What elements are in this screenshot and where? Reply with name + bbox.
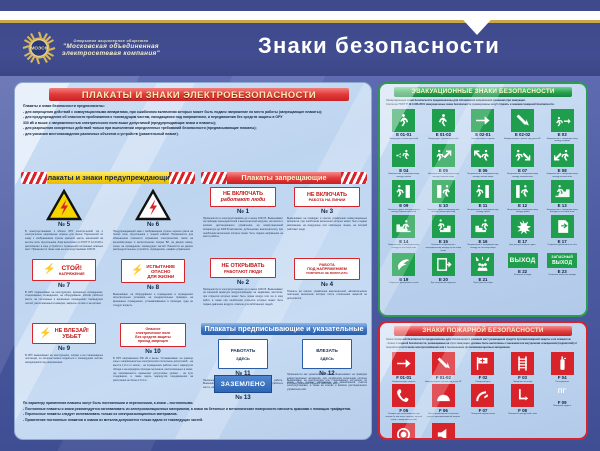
e-11-sign (471, 180, 494, 203)
fire-panel-title: ЗНАКИ ПОЖАРНОЙ БЕЗОПАСНОСТИ (394, 326, 572, 336)
top-navy-bar (0, 0, 600, 11)
f-10-sign (392, 423, 415, 440)
f-01-01-sign (392, 352, 415, 375)
sign-description: Выход здесь (левосторонний) (384, 138, 424, 141)
sign-description: Для доступа вскрыть здесь (503, 244, 543, 247)
arrow-diag-icon (514, 112, 531, 129)
prescriptive-sign-11-line-1: ЗДЕСЬ (236, 356, 250, 361)
sign-cell: E 02-02Направляющая стрелка под углом 45… (503, 109, 543, 143)
f-02-sign (471, 352, 494, 375)
warning-sign-8: ⚡ ИСПЫТАНИЕ ОПАСНО ДЛЯ ЖИЗНИ № 8 Вывешив… (113, 259, 193, 308)
sign-description: Направление к эвакуационному выходу по л… (463, 244, 503, 250)
sign-cell: ПГF 09Пожарный гидрант (542, 384, 582, 421)
fire-sign-grid: F 01-01Направляющая стрелкаF 01-02Направ… (384, 352, 582, 440)
prohibiting-sign-2-line-1: РАБОТАЮТ ЛЮДИ (224, 269, 262, 274)
extinguisher-icon (554, 355, 571, 372)
sign-cell: E 15Указатель направления к эвакуационно… (424, 215, 464, 252)
prohibiting-sign-2-number: № 2 (203, 279, 283, 286)
warning-section-title: Плакаты и знаки предупреждающие (21, 172, 195, 184)
run-down-right-icon (514, 147, 531, 164)
warning-sign-5-number: № 5 (25, 221, 103, 228)
sign-code: E 14 (384, 239, 424, 244)
electrical-safety-heading: ПЛАКАТЫ И ЗНАКИ ЭЛЕКТРОБЕЗОПАСНОСТИ (49, 88, 349, 101)
do-not-switch-on-line-work-placard: НЕ ВКЛЮЧАТЬ РАБОТА НА ЛИНИИ (294, 187, 360, 207)
prescriptive-sign-12-line-1: ЗДЕСЬ (320, 356, 334, 361)
e-19-sign (392, 253, 415, 276)
prohibiting-sign-3-desc: Вывешивают на приводах и ключах управлен… (287, 217, 367, 232)
sign-code: E 04 (384, 168, 424, 173)
warning-sign-7-line-1: НАПРЯЖЕНИЕ (59, 272, 85, 276)
prescriptive-sign-11-line-0: РАБОТАТЬ (231, 348, 256, 353)
sign-cell: E 01-01Выход здесь (левосторонний) (384, 109, 424, 143)
warning-sign-6-number: № 6 (113, 221, 193, 228)
e-17-sign (511, 215, 534, 238)
prescriptive-sign-13-desc: Применяется как указательный плакат. Выв… (287, 373, 367, 392)
prohibiting-sign-2-desc: Применяется в электроустановках до и выш… (203, 288, 283, 307)
warning-sign-8-line-2: ДЛЯ ЖИЗНИ (146, 274, 175, 279)
sign-description: Выход здесь (правосторонний) (424, 138, 464, 141)
sign-cell: E 20Для открывания сдвинуть (424, 253, 464, 285)
electric-field-placard: Опасное электрическое поле Без средств з… (120, 323, 186, 347)
warning-sign-9-line-0: НЕ ВЛЕЗАЙ! (55, 328, 89, 334)
prohibiting-sign-1: НЕ ВКЛЮЧАТЬ работают люди № 1 Применяетс… (203, 187, 283, 239)
sign-description: Указатель выхода (503, 274, 543, 277)
company-name-block: Открытое акционерное общество "Московска… (62, 39, 160, 57)
top-white-bar (0, 11, 600, 20)
sign-description: Пожарный сухотрубный стояк (503, 413, 543, 416)
sign-code: E 19 (384, 277, 424, 282)
sign-code: E 21 (463, 277, 503, 282)
prescriptive-sign-13-line-0: ЗАЗЕМЛЕНО (221, 381, 266, 388)
f-09-sign: ПГ (547, 384, 577, 399)
prohibiting-section-title: Плакаты запрещающие (201, 172, 367, 184)
fire-panel-intro: Знаки пожарной безопасности предназначен… (386, 338, 580, 350)
stairs-down-r-icon (554, 183, 571, 200)
warning-sign-6: № 6 Предупреждающий знак с изображением … (113, 190, 193, 252)
prohibiting-sign-1-desc: Применяется в электроустановках до и выш… (203, 217, 283, 240)
prohibiting-sign-2: НЕ ОТКРЫВАТЬ РАБОТАЮТ ЛЮДИ № 2 Применяет… (203, 258, 283, 306)
sign-cell: ЗАПАСНЫЙВЫХОДE 23Указатель запасного вых… (542, 253, 582, 285)
sign-description: Направляющая стрелка (463, 138, 503, 141)
e-06-sign (471, 144, 494, 167)
sign-code: E 20 (424, 277, 464, 282)
evacuation-signs-panel: ЭВАКУАЦИОННЫЕ ЗНАКИ БЕЗОПАСНОСТИ Эвакуац… (378, 82, 588, 317)
prescriptive-sign-12-line-0: ВЛЕЗАТЬ (316, 348, 338, 353)
prohibiting-section-label: Плакаты запрещающие (241, 173, 326, 182)
stairs-up-r-icon (435, 218, 452, 235)
e-07-sign (511, 144, 534, 167)
evacuation-panel-intro: Эвакуационные знаки безопасности предназ… (386, 99, 580, 107)
sign-code: E 12 (503, 203, 543, 208)
hatch-right-icon (341, 172, 367, 184)
dry-riser-icon (514, 387, 531, 404)
evacuation-panel-title: ЭВАКУАЦИОННЫЕ ЗНАКИ БЕЗОПАСНОСТИ (394, 87, 572, 97)
e-23-sign: ЗАПАСНЫЙВЫХОД (547, 253, 577, 268)
sign-description: Указатель направления к эвакуационному в… (424, 244, 464, 252)
sign-description: Пункт (место) сбора (463, 282, 503, 285)
sign-cell: E 03Направление к эвакуационному выходу … (542, 109, 582, 143)
prohibiting-sign-4: РАБОТА ПОД НАПРЯЖЕНИЕМ ПОВТОРНО НЕ ВКЛЮЧ… (287, 258, 367, 301)
e-02-01-sign (471, 109, 494, 132)
sign-code: E 17 (503, 239, 543, 244)
prohibiting-sign-1-number: № 1 (203, 208, 283, 215)
company-logo: МОЭСК Открытое акционерное общество "Мос… (22, 31, 160, 65)
lightning-bolt-icon: ⚡ (131, 266, 143, 276)
sign-cell: F 06Место размещения нескольких средств … (424, 384, 464, 421)
f-11-sign (432, 423, 455, 440)
prohibiting-sign-3: НЕ ВКЛЮЧАТЬ РАБОТА НА ЛИНИИ № 3 Вывешива… (287, 187, 367, 232)
prohibiting-sign-4-desc: Плакаты на ключах управления выключателе… (287, 290, 367, 301)
sign-cell: F 08Пожарный сухотрубный стояк (503, 384, 543, 421)
sign-description: Открывать движением от себя (542, 244, 582, 247)
e-22-sign: ВЫХОД (508, 253, 538, 268)
e-03-sign (551, 109, 574, 132)
sign-code: F 01-02 (424, 375, 464, 380)
sign-description: Направление к эвакуационному выходу прям… (463, 209, 503, 215)
company-name-line2: электросетевая компания" (62, 50, 160, 57)
prescriptive-sign-13-number: № 13 (203, 394, 283, 401)
intro-line-5: - для указания местонахождения различных… (23, 132, 367, 138)
sign-cell: F 05Телефон для использования при пожаре… (384, 384, 424, 421)
warning-sign-8-number: № 8 (113, 284, 193, 291)
stop-voltage-placard: ⚡ СТОЙ! НАПРЯЖЕНИЕ (32, 259, 96, 281)
sign-cell: E 19Открывать движением от себя (384, 253, 424, 285)
sign-cell: F 02Пожарный кран (463, 352, 503, 384)
sign-description: Указатель запасного выхода (542, 274, 582, 277)
sign-code: F 01-01 (384, 375, 424, 380)
warning-sign-5: № 5 В электроустановках и вблизи ОРУ эле… (25, 190, 103, 252)
slide-door-icon (435, 256, 452, 273)
logo-text: МОЭСК (31, 46, 48, 51)
sign-code: E 22 (503, 269, 543, 274)
sign-text: ВЫХОД (552, 260, 572, 266)
sign-text: ВЫХОД (510, 257, 536, 264)
warning-sign-10: Опасное электрическое поле Без средств з… (113, 323, 193, 383)
e-17-sign (551, 215, 574, 238)
sign-description: Пожарная лестница (503, 381, 543, 384)
warning-sign-9-line-1: УБЬЕТ (55, 334, 89, 340)
warning-sign-7-line-0: СТОЙ! (59, 265, 85, 272)
f-08-sign (511, 384, 534, 407)
e-01-01-sign (392, 109, 415, 132)
e-20-sign (432, 253, 455, 276)
e-12-sign (511, 180, 534, 203)
sign-description: Пожарный водоисточник (463, 413, 503, 416)
phone-icon (395, 387, 412, 404)
run-up-right-icon (435, 147, 452, 164)
break-glass-icon (514, 218, 531, 235)
warning-section-label: Плакаты и знаки предупреждающие (42, 173, 174, 182)
sign-description: Направление к эвакуационному выходу напр… (542, 138, 582, 144)
sign-code: E 02-02 (503, 132, 543, 137)
e-21-sign (471, 253, 494, 276)
do-not-open-people-working-placard: НЕ ОТКРЫВАТЬ РАБОТАЮТ ЛЮДИ (210, 258, 276, 278)
sign-code: E 03 (542, 132, 582, 137)
running-left-door-icon (395, 112, 412, 129)
sign-code: E 13 (542, 203, 582, 208)
sign-description: Направляющая стрелка под углом 45° (503, 138, 543, 141)
sign-cell: E 12Направление к эвакуационному выходу … (503, 180, 543, 214)
sign-description: Направление к эвакуационному выходу нале… (463, 173, 503, 179)
lightning-bolt-icon: ⚡ (39, 329, 51, 339)
sign-code: E 01-02 (424, 132, 464, 137)
chevron-down-icon (455, 11, 499, 35)
sign-description: Пожарный кран (463, 381, 503, 384)
warning-sign-7-number: № 7 (25, 282, 103, 289)
sign-cell: E 17Открывать движением от себя (542, 215, 582, 252)
fire-safety-signs-panel: ЗНАКИ ПОЖАРНОЙ БЕЗОПАСНОСТИ Знаки пожарн… (378, 321, 588, 440)
sign-code: E 01-01 (384, 132, 424, 137)
do-not-switch-on-people-working-placard: НЕ ВКЛЮЧАТЬ работают люди (210, 187, 276, 207)
f-05-sign (392, 384, 415, 407)
e-01-02-sign (432, 109, 455, 132)
run-up-left-icon (474, 147, 491, 164)
warning-sign-6-desc: Предупреждающий знак с изображением стре… (113, 230, 193, 253)
fire-hydrant-icon (474, 355, 491, 372)
grounded-placard: ЗАЗЕМЛЕНО (214, 375, 272, 393)
warning-sign-7: ⚡ СТОЙ! НАПРЯЖЕНИЕ № 7 В ОРУ подвешивают… (25, 259, 103, 306)
warning-sign-10-line-3: проход запрещен (138, 339, 168, 343)
prohibiting-sign-1-line-1: работают люди (221, 197, 265, 203)
sign-code: F 03 (503, 375, 543, 380)
climb-here-placard: ВЛЕЗАТЬ ЗДЕСЬ (302, 339, 352, 369)
sign-cell: E 04Направление к эвакуационному выходу … (384, 144, 424, 178)
door-left-icon (435, 183, 452, 200)
sign-description: Направление к эвакуационному выходу напр… (503, 173, 543, 179)
warning-sign-10-number: № 10 (113, 348, 193, 355)
prohibiting-sign-4-number: № 4 (287, 281, 367, 288)
sign-description: Направление к эвакуационному выходу нале… (542, 173, 582, 179)
sign-cell: E 17Для доступа вскрыть здесь (503, 215, 543, 252)
evacuation-sign-grid: E 01-01Выход здесь (левосторонний)E 01-0… (384, 109, 582, 286)
prescriptive-sign-13-note: Применяется как указательный плакат. Выв… (287, 373, 367, 392)
arrow-right-icon (474, 112, 491, 129)
warning-sign-9-desc: В ОРУ вывешивают на конструкциях, опорах… (25, 354, 103, 365)
sign-code: E 08 (542, 168, 582, 173)
sign-code: E 09 (384, 203, 424, 208)
sign-description: Направление к эвакуационному выходу нале… (384, 173, 424, 179)
sign-description: Пожарный гидрант (542, 405, 582, 408)
multi-icon (435, 387, 452, 404)
e-16-sign (471, 215, 494, 238)
high-voltage-white-triangle-icon (136, 190, 170, 220)
sign-code: E 10 (424, 203, 464, 208)
hatch-right-icon (169, 172, 195, 184)
e-10-sign (432, 180, 455, 203)
high-voltage-yellow-triangle-icon (47, 190, 81, 220)
door-right-icon (395, 183, 412, 200)
f-01-02-sign (432, 352, 455, 375)
footer-notes: По характеру применения плакаты могут бы… (23, 401, 367, 423)
sign-description: Открывать движением от себя (384, 282, 424, 285)
sign-cell: F 11Звуковой оповещатель пожарной тревог… (424, 423, 464, 440)
footer-line-3: - Применение постоянных плакатов и знако… (23, 418, 367, 424)
company-name-line1: "Московская объединенная (62, 43, 160, 50)
test-danger-placard: ⚡ ИСПЫТАНИЕ ОПАСНО ДЛЯ ЖИЗНИ (121, 259, 185, 283)
electrical-safety-panel: ПЛАКАТЫ И ЗНАКИ ЭЛЕКТРОБЕЗОПАСНОСТИ Плак… (14, 82, 372, 440)
sign-cell: E 02-01Направляющая стрелка (463, 109, 503, 143)
sign-description: Направление к эвакуационному выходу по л… (542, 209, 582, 215)
sign-cell: F 03Пожарная лестница (503, 352, 543, 384)
warning-sign-9-number: № 9 (25, 345, 103, 352)
evac-intro-line-1: Согласно ГОСТ Р 12.4.026-2001 эвакуацион… (386, 103, 580, 107)
sign-description: Направляющая стрелка (384, 381, 424, 384)
sign-code: F 04 (542, 375, 582, 380)
e-08-sign (551, 144, 574, 167)
sign-description: Направляющая стрелка под углом 45° (424, 381, 464, 384)
sign-cell: E 21Пункт (место) сбора (463, 253, 503, 285)
water-source-icon (474, 387, 491, 404)
prohibiting-sign-3-number: № 3 (287, 208, 367, 215)
work-here-placard: РАБОТАТЬ ЗДЕСЬ (218, 339, 268, 369)
stairs-up-l-icon (474, 218, 491, 235)
sign-description: Телефон для использования при пожаре (в … (384, 413, 424, 421)
sign-cell: E 01-02Выход здесь (правосторонний) (424, 109, 464, 143)
arrow-right-icon (395, 355, 412, 372)
button-icon (395, 426, 412, 440)
warning-sign-8-desc: Вывешивают на оборудовании и ограждениях… (113, 293, 193, 308)
sign-code: F 02 (463, 375, 503, 380)
sign-cell: E 14Направление к эвакуационному выходу … (384, 215, 424, 252)
e-04-sign (392, 144, 415, 167)
prescriptive-sign-13: ЗАЗЕМЛЕНО № 13 (203, 375, 283, 401)
sign-code: E 23 (542, 269, 582, 274)
horn-icon (435, 426, 452, 440)
e-13-sign (551, 180, 574, 203)
warning-sign-5-desc: В электроустановках и вблизи ОРУ электри… (25, 230, 103, 253)
run-arrow-left-icon (395, 147, 412, 164)
push-open-icon (554, 218, 571, 235)
page-title: Знаки безопасности (258, 33, 500, 59)
sign-code: E 07 (503, 168, 543, 173)
f-04-sign (551, 352, 574, 375)
sign-cell: E 06Направление к эвакуационному выходу … (463, 144, 503, 178)
sign-cell: F 10Кнопка включения установок систем по… (384, 423, 424, 440)
warning-sign-10-desc: В ОРУ напряжением 330 кВ и выше. Устанав… (113, 357, 193, 383)
sign-cell: F 07Пожарный водоисточник (463, 384, 503, 421)
lightning-bolt-icon: ⚡ (43, 265, 55, 275)
e-02-02-sign (511, 109, 534, 132)
running-right-door-icon (435, 112, 452, 129)
sign-description: Место размещения нескольких средств прот… (424, 413, 464, 419)
assembly-point-icon (474, 256, 491, 273)
sign-cell: E 13Направление к эвакуационному выходу … (542, 180, 582, 214)
sign-cell: F 01-01Направляющая стрелка (384, 352, 424, 384)
f-07-sign (471, 384, 494, 407)
sign-code: E 06 (463, 168, 503, 173)
arrow-diag-icon (435, 355, 452, 372)
e-15-sign (432, 215, 455, 238)
run-straight-r-icon (474, 183, 491, 200)
e-05-sign (432, 144, 455, 167)
hatch-left-icon (201, 172, 227, 184)
sun-logo-icon: МОЭСК (22, 31, 56, 65)
sign-description: Направление к эвакуационному выходу прям… (503, 209, 543, 215)
e-09-sign (392, 180, 415, 203)
intro-text: Плакаты и знаки безопасности предназначе… (23, 104, 367, 138)
sign-description: Направление к эвакуационному выходу по л… (384, 244, 424, 250)
run-straight-l-icon (514, 183, 531, 200)
sign-code: E 16 (463, 239, 503, 244)
sign-text: ПГ (558, 388, 567, 395)
sign-cell: E 08Направление к эвакуационному выходу … (542, 144, 582, 178)
ladder-icon (514, 355, 531, 372)
sign-description: Огнетушитель (542, 381, 582, 384)
sign-cell: E 10Указатель двери эвакуационного выход… (424, 180, 464, 214)
warning-sign-8-line-0: ИСПЫТАНИЕ (146, 264, 175, 269)
sign-code: E 02-01 (463, 132, 503, 137)
sign-description: Для открывания сдвинуть (424, 282, 464, 285)
sign-description: Указатель двери эвакуационного выхода (п… (384, 209, 424, 215)
run-down-left-icon (554, 147, 571, 164)
f-03-sign (511, 352, 534, 375)
warning-sign-7-desc: В ОРУ подвешивают на конструкциях, време… (25, 291, 103, 306)
prescriptive-section-label: Плакаты предписывающие и указательные (204, 324, 363, 333)
sign-code: E 05 (424, 168, 464, 173)
sign-cell: E 09Указатель двери эвакуационного выход… (384, 180, 424, 214)
prohibiting-sign-4-line-2: ПОВТОРНО НЕ ВКЛЮЧАТЬ (306, 271, 348, 275)
sign-cell: E 11Направление к эвакуационному выходу … (463, 180, 503, 214)
safety-signs-poster: МОЭСК Открытое акционерное общество "Мос… (0, 0, 600, 451)
sign-description: Направление к эвакуационному выходу напр… (424, 173, 464, 179)
sign-cell: E 07Направление к эвакуационному выходу … (503, 144, 543, 178)
run-arrow-right-icon (554, 112, 571, 129)
sign-cell: F 01-02Направляющая стрелка под углом 45… (424, 352, 464, 384)
hatch-left-icon (21, 172, 47, 184)
sign-code: E 11 (463, 203, 503, 208)
sign-cell: ВЫХОДE 22Указатель выхода (503, 253, 543, 285)
sign-cell: F 04Огнетушитель (542, 352, 582, 384)
prohibiting-sign-3-line-1: РАБОТА НА ЛИНИИ (309, 198, 346, 202)
e-14-sign (392, 215, 415, 238)
sign-code: F 06 (424, 408, 464, 413)
sign-code: E 17 (542, 239, 582, 244)
warning-sign-9: ⚡ НЕ ВЛЕЗАЙ! УБЬЕТ № 9 В ОРУ вывешивают … (25, 323, 103, 365)
stairs-down-l-icon (395, 218, 412, 235)
sign-cell: E 05Направление к эвакуационному выходу … (424, 144, 464, 178)
work-under-voltage-placard: РАБОТА ПОД НАПРЯЖЕНИЕМ ПОВТОРНО НЕ ВКЛЮЧ… (294, 258, 360, 280)
sign-code: E 15 (424, 239, 464, 244)
fire-intro-line-1: - Знаки пожарной безопасности, размещаем… (386, 342, 580, 350)
f-06-sign (432, 384, 455, 407)
hand-push-icon (395, 256, 412, 273)
do-not-climb-placard: ⚡ НЕ ВЛЕЗАЙ! УБЬЕТ (32, 323, 96, 344)
sign-description: Указатель двери эвакуационного выхода (л… (424, 209, 464, 215)
sign-cell: E 16Направление к эвакуационному выходу … (463, 215, 503, 252)
prescriptive-section-title: Плакаты предписывающие и указательные (201, 323, 367, 335)
